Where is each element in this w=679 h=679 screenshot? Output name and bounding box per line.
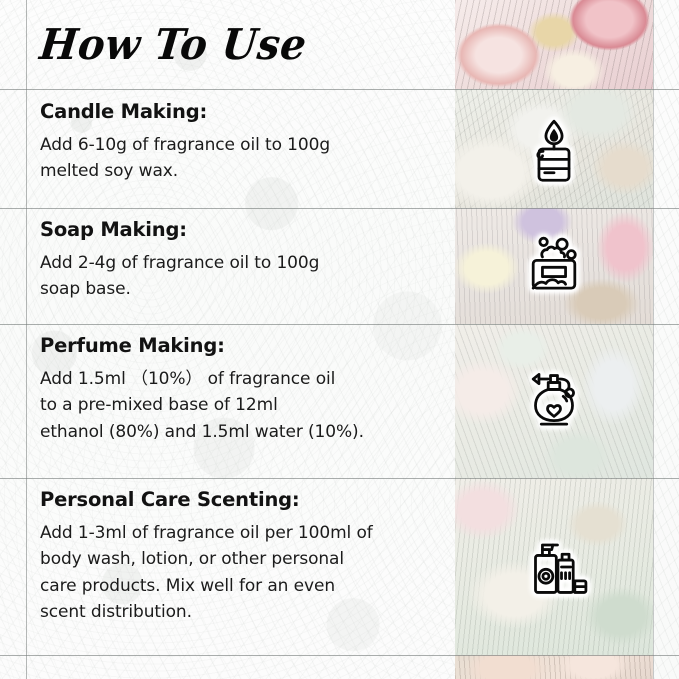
section-heading: Perfume Making: xyxy=(40,334,439,357)
section-perfume-making: Perfume Making: Add 1.5ml （10%） of fragr… xyxy=(0,334,455,445)
lotion-bottles-icon xyxy=(515,528,593,606)
section-soap-making: Soap Making: Add 2-4g of fragrance oil t… xyxy=(0,218,455,303)
body-line: Add 6-10g of fragrance oil to 100g xyxy=(40,132,439,158)
perfume-bottle-icon xyxy=(515,362,593,440)
title-block: How To Use xyxy=(0,0,455,89)
candle-icon xyxy=(515,110,593,188)
body-line: to a pre-mixed base of 12ml xyxy=(40,392,439,418)
body-line: Add 1.5ml （10%） of fragrance oil xyxy=(40,366,439,392)
section-body: Add 1-3ml of fragrance oil per 100ml of … xyxy=(40,520,439,625)
section-personal-care-scenting: Personal Care Scenting: Add 1-3ml of fra… xyxy=(0,488,455,625)
section-candle-making: Candle Making: Add 6-10g of fragrance oi… xyxy=(0,100,455,185)
section-body: Add 6-10g of fragrance oil to 100g melte… xyxy=(40,132,439,185)
right-margin-strip xyxy=(654,0,679,679)
text-column: How To Use Candle Making: Add 6-10g of f… xyxy=(0,0,455,679)
section-body: Add 1.5ml （10%） of fragrance oil to a pr… xyxy=(40,366,439,445)
page-title: How To Use xyxy=(37,20,309,70)
photo-strip-roses xyxy=(455,0,653,89)
section-heading: Soap Making: xyxy=(40,218,439,241)
body-line: care products. Mix well for an even xyxy=(40,573,439,599)
section-body: Add 2-4g of fragrance oil to 100g soap b… xyxy=(40,250,439,303)
right-vertical-rule xyxy=(653,0,654,679)
section-heading: Personal Care Scenting: xyxy=(40,488,439,511)
body-line: soap base. xyxy=(40,276,439,302)
soap-bar-icon xyxy=(515,226,593,304)
how-to-use-infographic: How To Use Candle Making: Add 6-10g of f… xyxy=(0,0,679,679)
body-line: body wash, lotion, or other personal xyxy=(40,546,439,572)
body-line: ethanol (80%) and 1.5ml water (10%). xyxy=(40,419,439,445)
photo-column xyxy=(455,0,653,679)
section-heading: Candle Making: xyxy=(40,100,439,123)
body-line: melted soy wax. xyxy=(40,158,439,184)
body-line: Add 2-4g of fragrance oil to 100g xyxy=(40,250,439,276)
photo-strip-bottom xyxy=(455,655,653,679)
body-line: Add 1-3ml of fragrance oil per 100ml of xyxy=(40,520,439,546)
body-line: scent distribution. xyxy=(40,599,439,625)
